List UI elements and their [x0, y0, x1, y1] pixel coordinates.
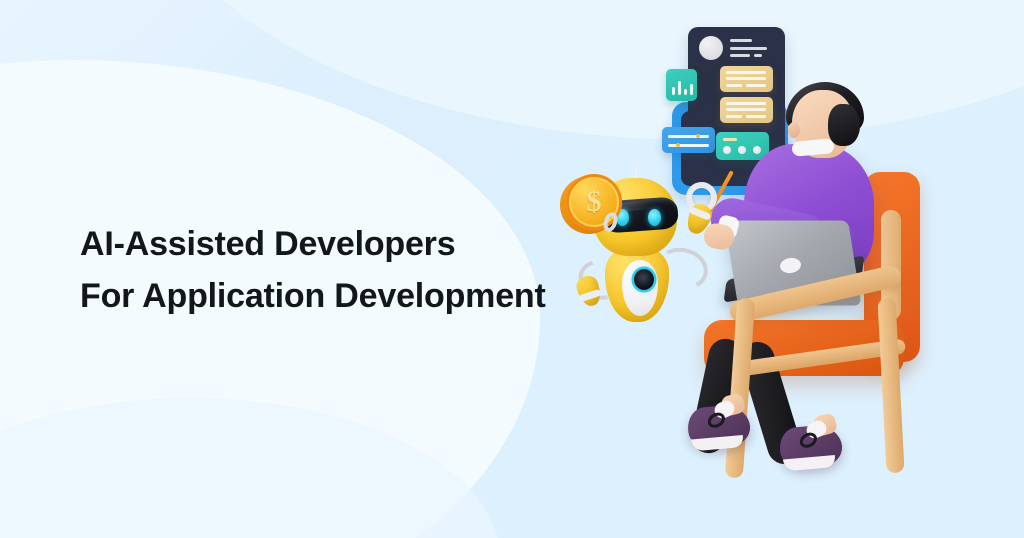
robot-eye-right-icon: [648, 209, 661, 226]
robot-chest-lens-icon: [634, 269, 654, 290]
dashboard-text-line: [730, 39, 752, 42]
shoe-sole: [783, 455, 836, 471]
page-title: AI-Assisted Developers For Application D…: [80, 218, 546, 322]
card-text-line: [746, 84, 766, 87]
card-text-line: [726, 84, 742, 87]
ai-robot-character: $: [556, 168, 756, 328]
card-text-line: [726, 77, 766, 80]
person-hair-side: [828, 104, 860, 146]
dashboard-text-line: [754, 54, 762, 57]
banner-root: AI-Assisted Developers For Application D…: [0, 0, 1024, 538]
person-shoe-far: [778, 423, 843, 470]
headline-line-1: AI-Assisted Developers: [80, 218, 546, 270]
person-ear: [788, 122, 800, 138]
headline-line-2: For Application Development: [80, 270, 546, 322]
chart-bar: [672, 87, 675, 95]
dashboard-text-line: [730, 47, 767, 50]
user-avatar-circle: [699, 36, 723, 60]
dashboard-text-line: [730, 54, 750, 57]
card-text-line: [726, 71, 766, 74]
